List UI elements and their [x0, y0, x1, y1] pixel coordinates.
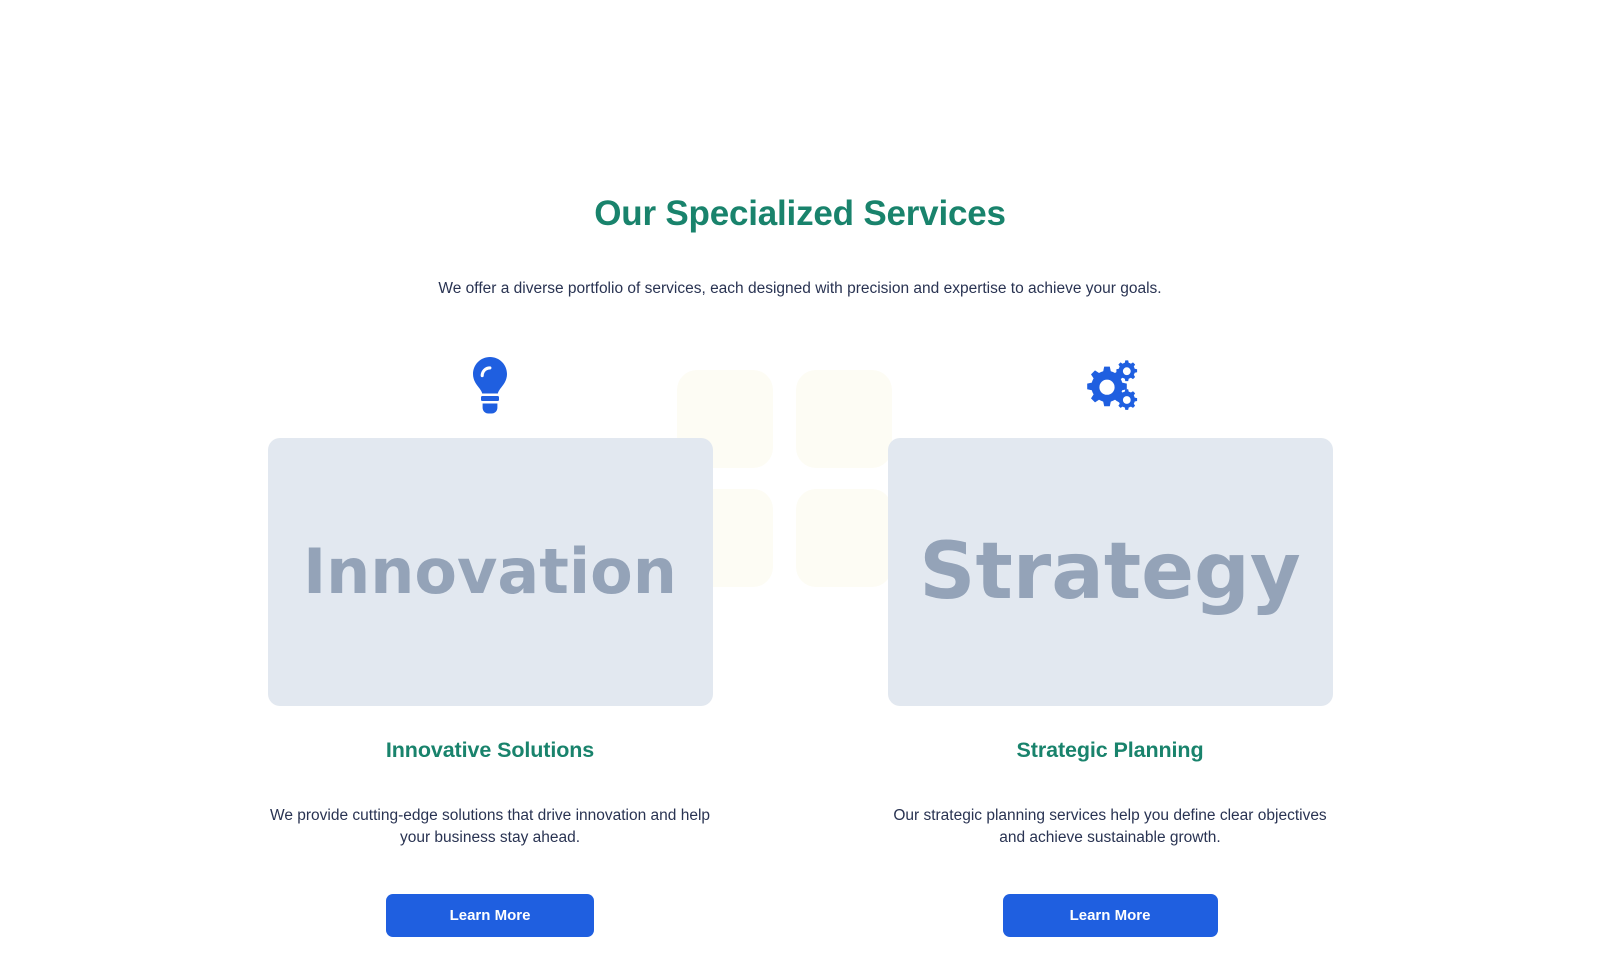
lightbulb-icon	[468, 355, 512, 415]
services-section: Our Specialized Services We offer a dive…	[0, 0, 1600, 937]
service-image-placeholder: Strategy	[888, 438, 1333, 706]
learn-more-button[interactable]: Learn More	[1003, 894, 1218, 937]
service-description: We provide cutting-edge solutions that d…	[268, 805, 713, 849]
placeholder-label: Strategy	[919, 533, 1300, 611]
service-title: Innovative Solutions	[386, 738, 594, 763]
placeholder-label: Innovation	[303, 541, 677, 603]
service-card-strategy: Strategy Strategic Planning Our strategi…	[888, 355, 1333, 937]
service-image-placeholder: Innovation	[268, 438, 713, 706]
service-card-innovation: Innovation Innovative Solutions We provi…	[268, 355, 713, 937]
service-description: Our strategic planning services help you…	[888, 805, 1333, 849]
page-title: Our Specialized Services	[0, 193, 1600, 235]
service-title: Strategic Planning	[1017, 738, 1204, 763]
section-header: Our Specialized Services We offer a dive…	[0, 0, 1600, 300]
gears-icon	[1082, 355, 1138, 415]
services-card-grid: Innovation Innovative Solutions We provi…	[0, 355, 1600, 937]
learn-more-button[interactable]: Learn More	[386, 894, 594, 937]
section-subtitle: We offer a diverse portfolio of services…	[0, 278, 1600, 300]
